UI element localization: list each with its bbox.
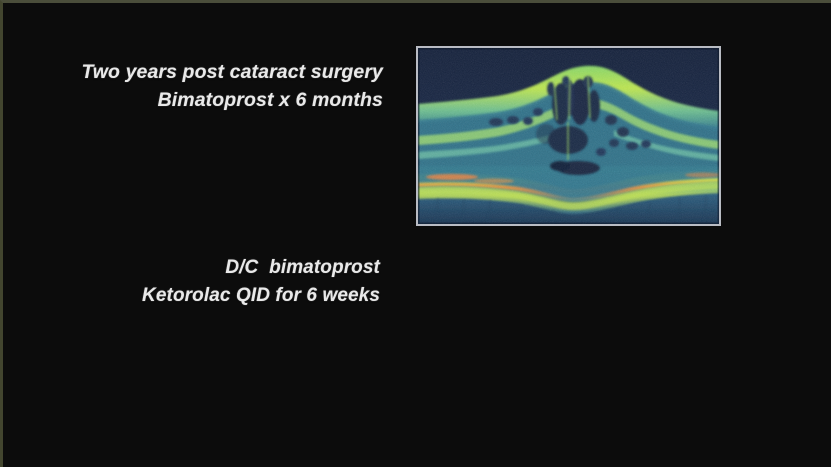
annotation-top: Two years post cataract surgery Bimatopr… bbox=[43, 58, 383, 115]
annotation-bottom: D/C bimatoprost Ketorolac QID for 6 week… bbox=[43, 254, 380, 309]
speckle-overlay-fine bbox=[418, 48, 719, 224]
oct-b-scan-image bbox=[418, 48, 719, 224]
annotation-bottom-line-1: D/C bimatoprost bbox=[43, 254, 380, 282]
annotation-bottom-line-2: Ketorolac QID for 6 weeks bbox=[43, 282, 380, 310]
annotation-top-line-2: Bimatoprost x 6 months bbox=[43, 86, 383, 114]
oct-scan-figure bbox=[416, 46, 721, 226]
slide-canvas: Two years post cataract surgery Bimatopr… bbox=[0, 0, 831, 467]
annotation-top-line-1: Two years post cataract surgery bbox=[43, 58, 383, 86]
